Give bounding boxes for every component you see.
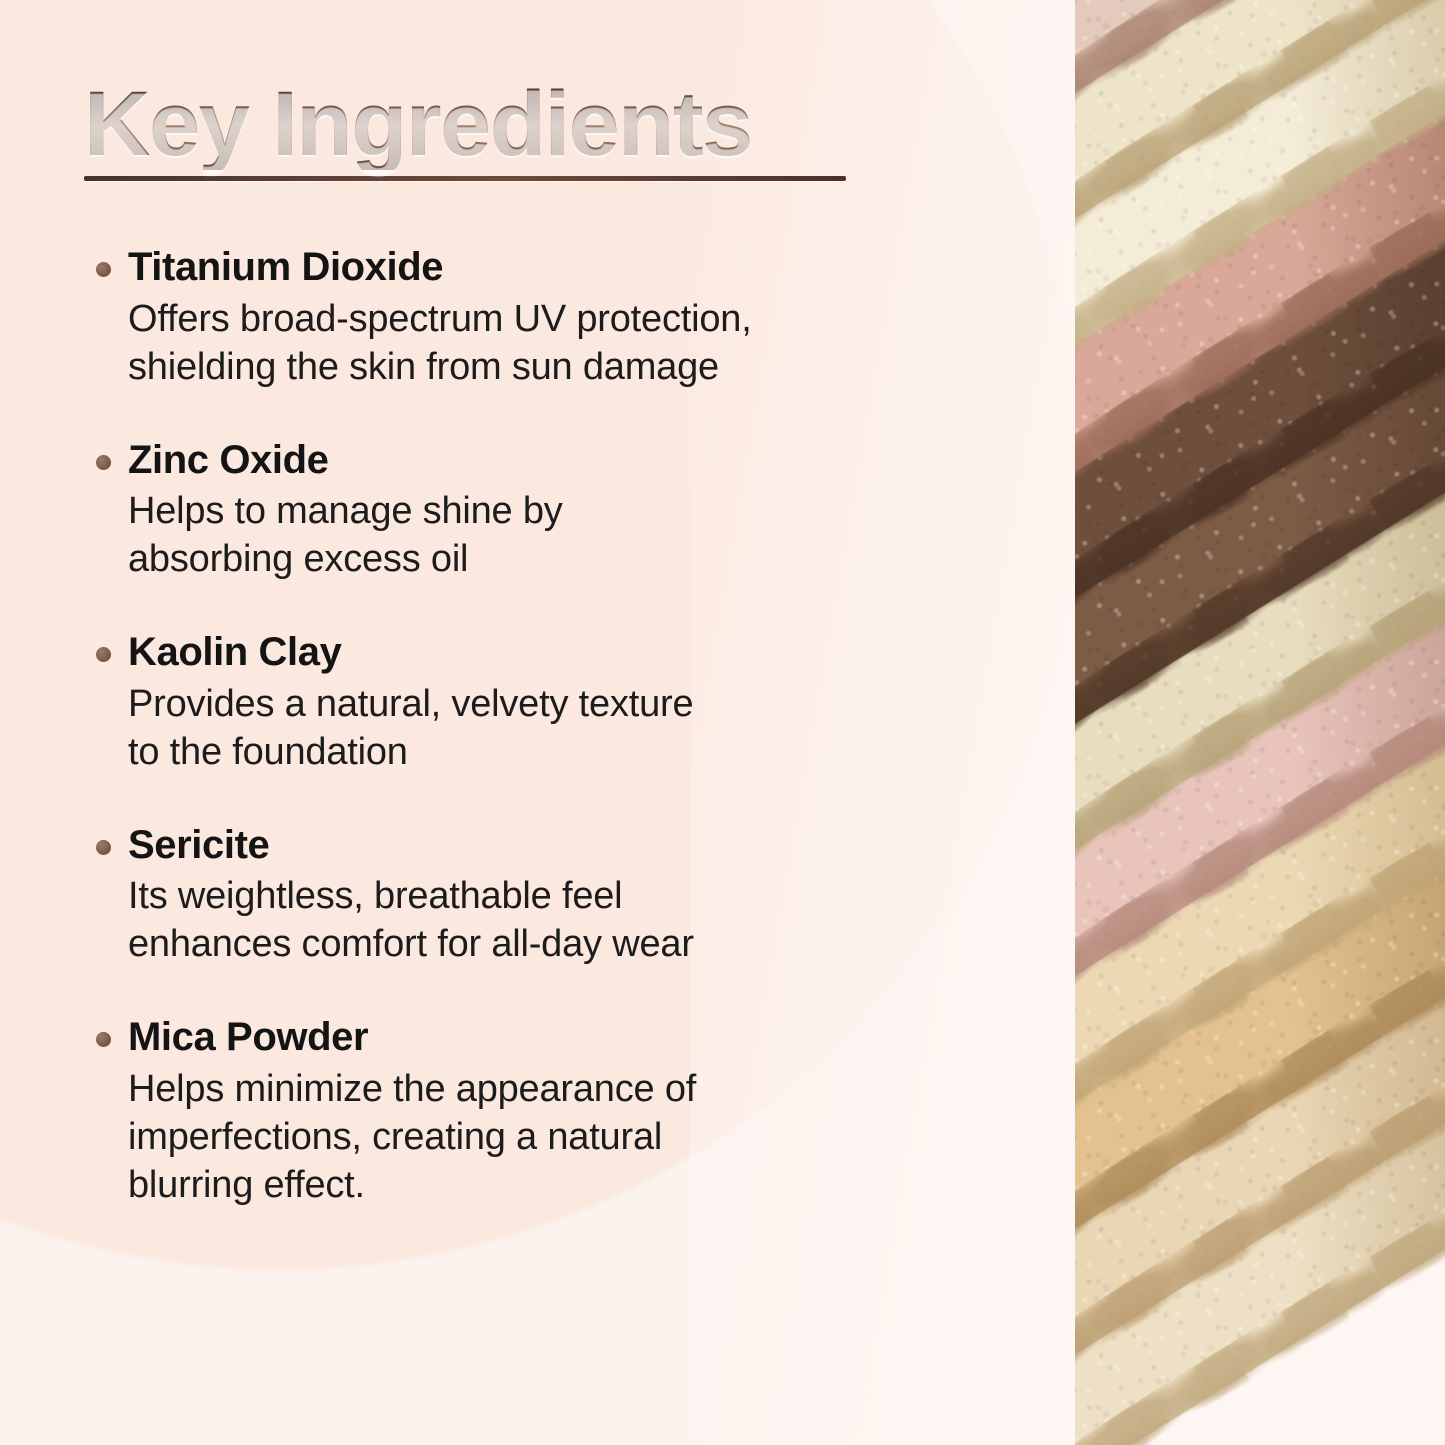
ingredient-item: Zinc OxideHelps to manage shine by absor… <box>84 436 1040 585</box>
page-title-underline <box>84 176 846 181</box>
ingredient-description: Provides a natural, velvety texture to t… <box>128 681 1040 777</box>
powder-swatch-image <box>1075 0 1445 1445</box>
ingredient-description: Helps to manage shine by absorbing exces… <box>128 488 1040 584</box>
powder-swatch-bands <box>1075 0 1445 1445</box>
ingredient-item: Titanium DioxideOffers broad-spectrum UV… <box>84 243 1040 392</box>
ingredient-item: Mica PowderHelps minimize the appearance… <box>84 1013 1040 1209</box>
page-title: Key Ingredients <box>84 78 846 170</box>
ingredient-item: SericiteIts weightless, breathable feel … <box>84 821 1040 970</box>
ingredient-name: Sericite <box>128 821 1040 870</box>
ingredient-description: Helps minimize the appearance of imperfe… <box>128 1066 1040 1210</box>
ingredients-list: Titanium DioxideOffers broad-spectrum UV… <box>84 243 1040 1210</box>
ingredient-name: Titanium Dioxide <box>128 243 1040 292</box>
bullet-dot-icon <box>96 455 111 470</box>
bullet-dot-icon <box>96 840 111 855</box>
ingredient-description: Its weightless, breathable feel enhances… <box>128 873 1040 969</box>
ingredient-name: Kaolin Clay <box>128 628 1040 677</box>
ingredients-panel: Key Ingredients Titanium DioxideOffers b… <box>0 0 1040 1445</box>
ingredient-description: Offers broad-spectrum UV protection, shi… <box>128 296 1040 392</box>
bullet-dot-icon <box>96 647 111 662</box>
ingredient-item: Kaolin ClayProvides a natural, velvety t… <box>84 628 1040 777</box>
ingredient-name: Mica Powder <box>128 1013 1040 1062</box>
bullet-dot-icon <box>96 1032 111 1047</box>
ingredient-name: Zinc Oxide <box>128 436 1040 485</box>
bullet-dot-icon <box>96 262 111 277</box>
page-title-wrap: Key Ingredients <box>84 78 846 181</box>
